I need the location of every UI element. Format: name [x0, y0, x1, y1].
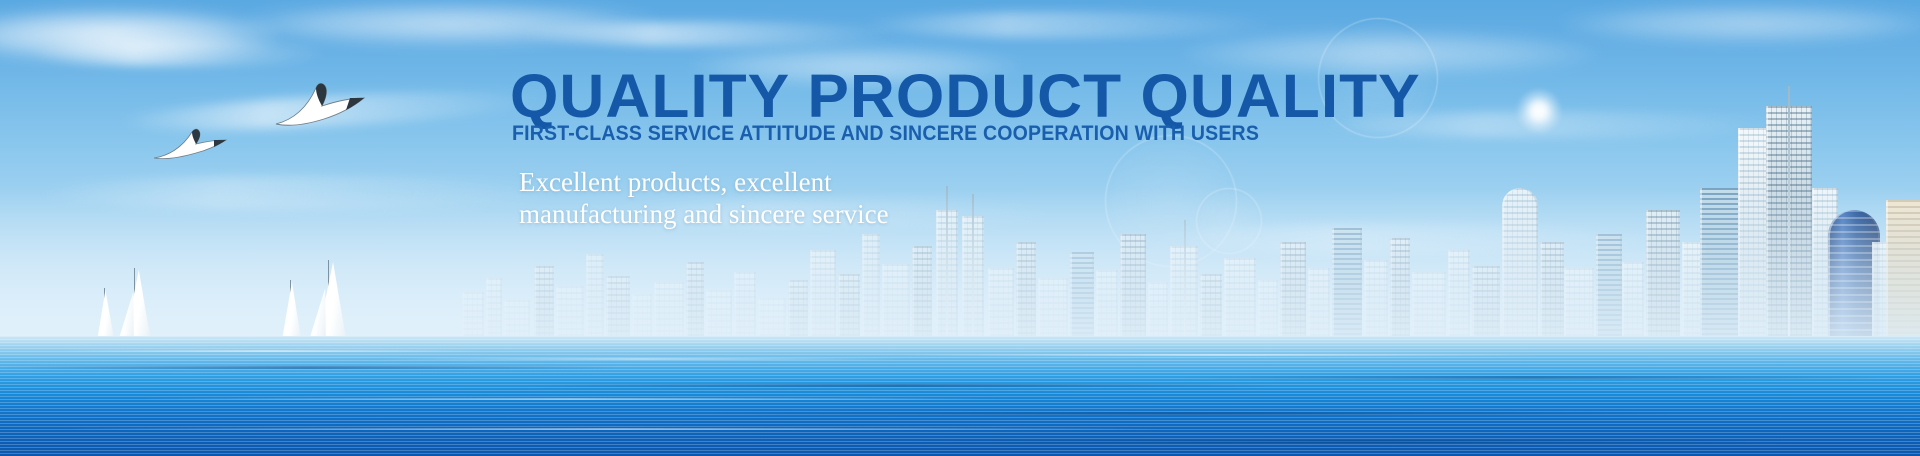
water-ripple [60, 428, 1160, 430]
tower-spire [946, 186, 948, 338]
building [1540, 242, 1564, 338]
building-tan [1886, 200, 1920, 338]
building [586, 254, 604, 338]
cloud [240, 2, 660, 46]
tower-spire [972, 194, 974, 338]
cloud-wisp [520, 22, 900, 46]
cloud [0, 8, 280, 62]
building [632, 294, 652, 338]
building [1412, 272, 1446, 338]
building [462, 292, 484, 338]
cloud-wisp [30, 40, 330, 66]
building [1332, 228, 1362, 338]
cloud-wisp [860, 12, 1280, 38]
boat-sail [280, 282, 302, 344]
hero-banner: QUALITY PRODUCT QUALITY FIRST-CLASS SERV… [0, 0, 1920, 456]
building [1390, 238, 1410, 338]
building [882, 264, 910, 338]
building [734, 272, 756, 338]
building [1070, 252, 1094, 338]
banner-tagline: Excellent products, excellent manufactur… [519, 167, 889, 231]
building [758, 298, 786, 338]
tower-spire [1184, 220, 1186, 338]
cloud [1560, 4, 1920, 44]
building [706, 290, 732, 338]
building [1280, 242, 1306, 338]
building [606, 276, 630, 338]
banner-subtitle: FIRST-CLASS SERVICE ATTITUDE AND SINCERE… [512, 122, 1259, 146]
building [1120, 234, 1146, 338]
building [686, 262, 704, 338]
building [1308, 268, 1330, 338]
building [1564, 268, 1594, 338]
building [1016, 242, 1036, 338]
building [838, 274, 860, 338]
building [912, 246, 932, 338]
building [1224, 258, 1256, 338]
building-round-top [1502, 188, 1538, 338]
water-ripple [900, 354, 1540, 356]
water-ripple [1180, 376, 1880, 379]
building [556, 286, 584, 338]
building [534, 266, 554, 338]
water-ripple [900, 440, 1800, 443]
building [1038, 278, 1068, 338]
building [1096, 270, 1118, 338]
building [1258, 280, 1278, 338]
water-ripple [60, 350, 480, 352]
building [1448, 250, 1470, 338]
tower-spire [1788, 86, 1790, 338]
building [1700, 188, 1740, 338]
ocean-water [0, 336, 1920, 456]
building [1646, 210, 1680, 338]
water-ripple [520, 384, 1280, 387]
water-ripple [0, 366, 620, 369]
building [810, 250, 836, 338]
water-ripple [140, 398, 1000, 400]
building [1148, 282, 1168, 338]
banner-headline: QUALITY PRODUCT QUALITY [510, 66, 1421, 127]
water-ripple [380, 358, 900, 360]
building [504, 300, 530, 338]
building [1622, 262, 1644, 338]
water-ripple [700, 412, 1680, 415]
building [1200, 274, 1222, 338]
building [788, 280, 808, 338]
building [486, 278, 502, 338]
building [1364, 260, 1388, 338]
building [862, 234, 880, 338]
building [1596, 234, 1622, 338]
building-skyscraper [1738, 128, 1768, 338]
building [654, 282, 684, 338]
building [1472, 266, 1500, 338]
building [988, 268, 1014, 338]
